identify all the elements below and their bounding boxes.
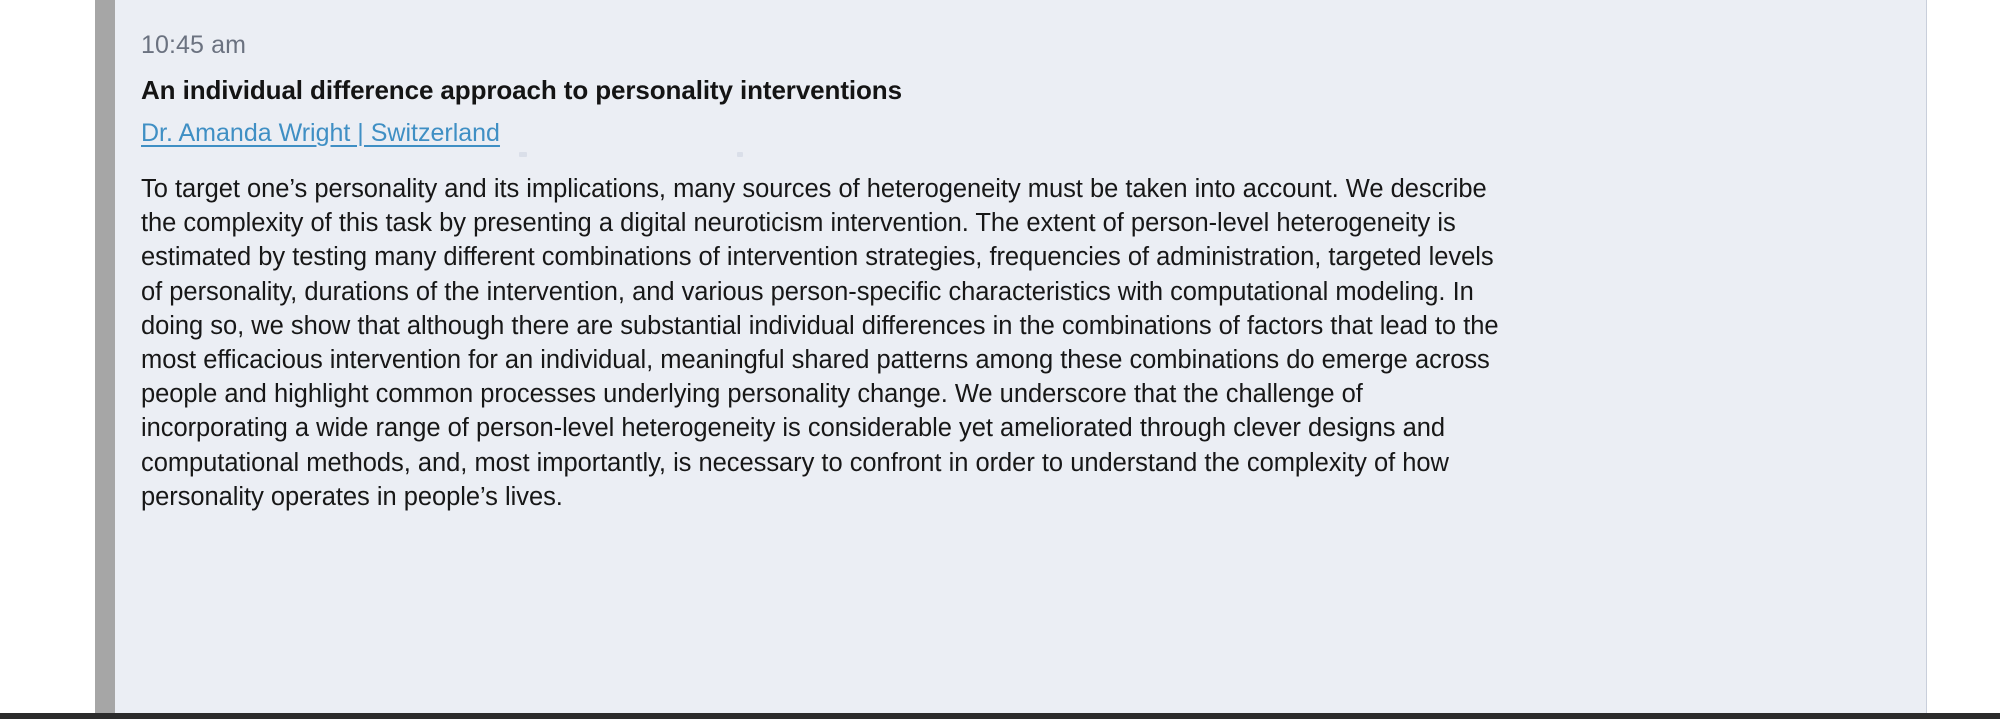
clipped-text-artifact xyxy=(737,152,743,157)
talk-speaker-link[interactable]: Dr. Amanda Wright | Switzerland xyxy=(141,119,500,147)
talk-timestamp: 10:45 am xyxy=(141,30,246,60)
bottom-divider xyxy=(0,713,2000,719)
clipped-text-artifact xyxy=(519,152,527,157)
talk-title: An individual difference approach to per… xyxy=(141,74,902,106)
talk-card-content: 10:45 am An individual difference approa… xyxy=(141,0,1926,713)
talk-session-card[interactable]: 10:45 am An individual difference approa… xyxy=(95,0,1927,713)
talk-abstract: To target one’s personality and its impl… xyxy=(141,172,1516,514)
page-root: 10:45 am An individual difference approa… xyxy=(0,0,2000,719)
talk-speaker-line: Dr. Amanda Wright | Switzerland xyxy=(141,118,500,148)
